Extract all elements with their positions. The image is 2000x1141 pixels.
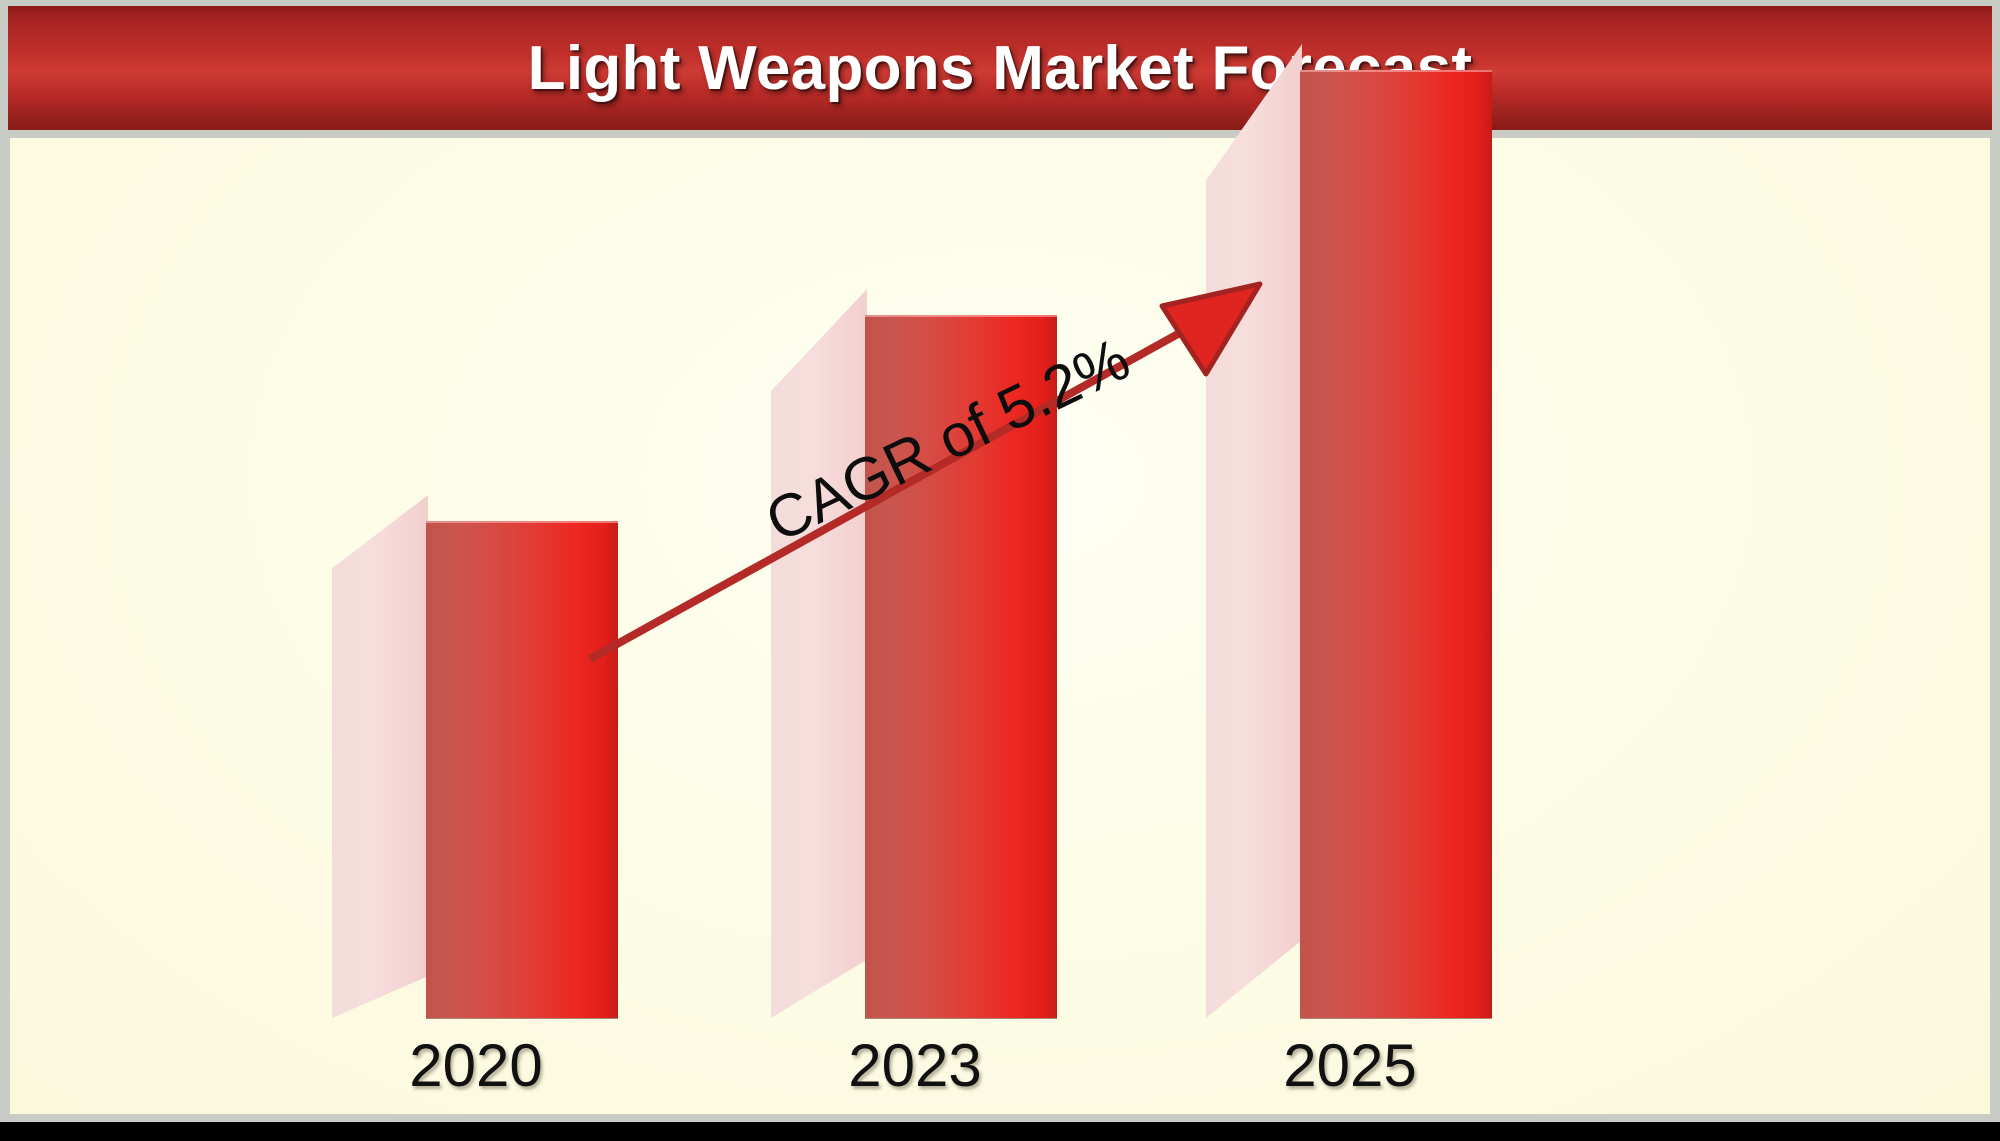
category-label-2023: 2023 [765,1031,1065,1100]
bar-front-face-2020 [426,521,618,1018]
bottom-black-strip [0,1122,2000,1141]
bar-side-face-2023 [771,289,867,1018]
title-banner: Light Weapons Market Forecast [8,6,1992,130]
plot-area: CAGR of 5.2% 2020 2023 2025 [10,138,1990,1114]
chart-panel: CAGR of 5.2% 2020 2023 2025 [10,138,1990,1114]
bar-side-face-2025 [1206,44,1302,1018]
category-label-2020: 2020 [326,1031,626,1100]
infographic-root: Light Weapons Market Forecast [0,0,2000,1141]
bar-front-face-2025 [1300,70,1492,1018]
category-label-2025: 2025 [1200,1031,1500,1100]
bar-side-face-2020 [332,495,428,1018]
